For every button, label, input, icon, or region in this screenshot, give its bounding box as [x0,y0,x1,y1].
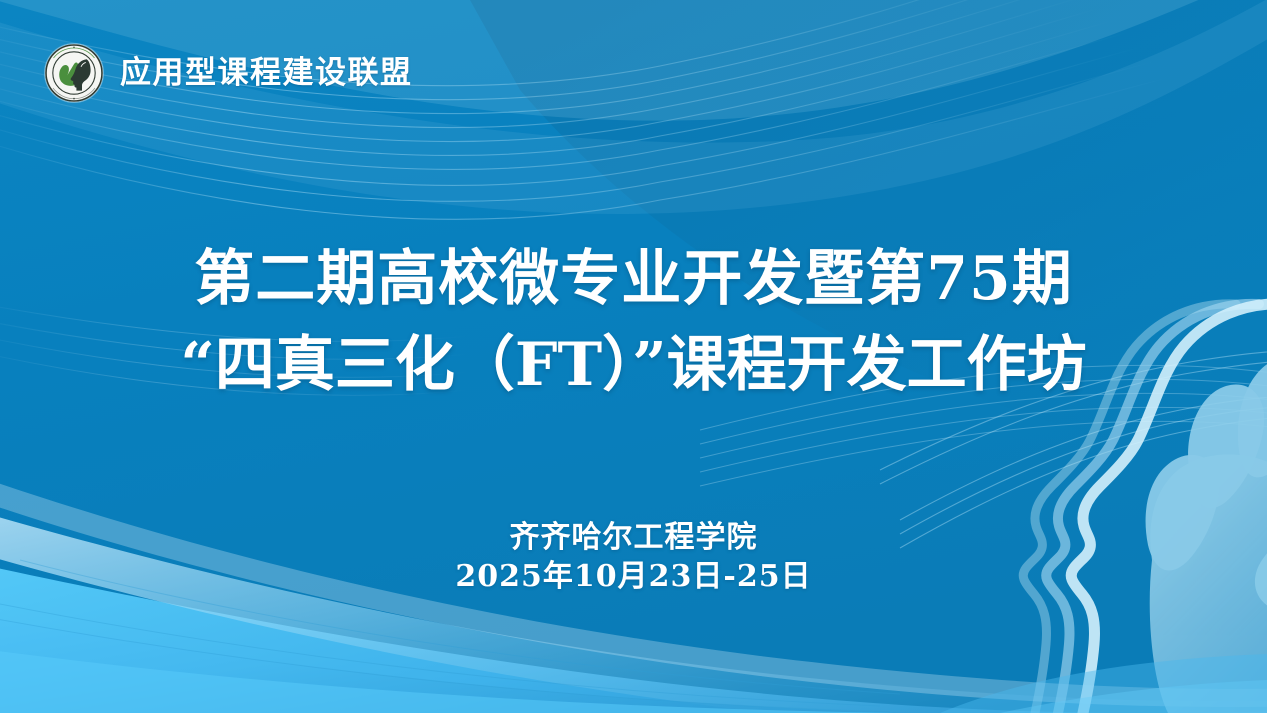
slide-header: 应用型课程建设联盟 [45,44,413,102]
organization-name: 应用型课程建设联盟 [120,58,413,89]
title-line-1: 第二期高校微专业开发暨第75期 [0,236,1267,322]
venue-name: 齐齐哈尔工程学院 [0,518,1267,557]
main-title: 第二期高校微专业开发暨第75期 “四真三化（FT）”课程开发工作坊 [0,236,1267,408]
subtitle-block: 齐齐哈尔工程学院 2025年10月23日-25日 [0,518,1267,596]
event-dates: 2025年10月23日-25日 [0,557,1267,596]
title-line-2: “四真三化（FT）”课程开发工作坊 [0,322,1267,408]
presentation-slide: 应用型课程建设联盟 第二期高校微专业开发暨第75期 “四真三化（FT）”课程开发… [0,0,1267,713]
alliance-head-hand-logo-icon [45,44,103,102]
